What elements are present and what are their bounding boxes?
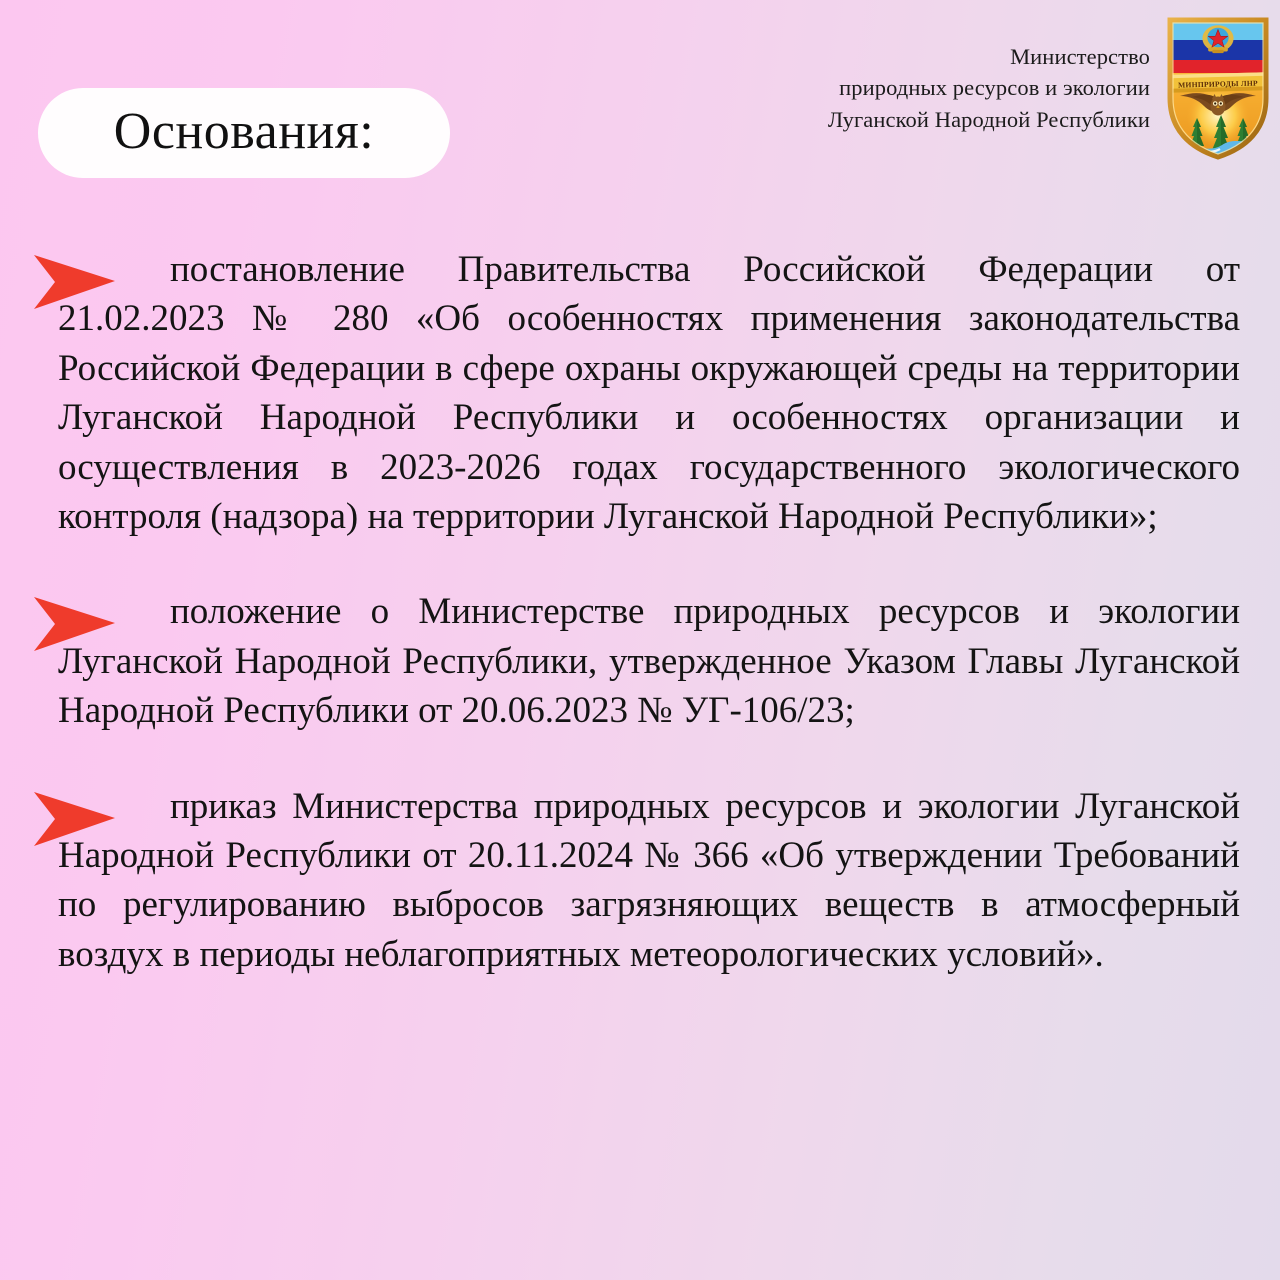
page-title: Основания: <box>114 102 374 165</box>
bullet-item: постановление Правительства Российской Ф… <box>58 245 1240 541</box>
ministry-name-line-3: Луганской Народной Республики <box>828 104 1150 136</box>
bullet-item: положение о Министерстве природных ресур… <box>58 587 1240 735</box>
red-arrow-bullet-icon <box>31 593 117 655</box>
red-arrow-bullet-icon <box>31 251 117 313</box>
masthead: Министерство природных ресурсов и эколог… <box>828 14 1272 162</box>
bullet-text: приказ Министерства природных ресурсов и… <box>58 782 1240 980</box>
ministry-name-line-1: Министерство <box>828 41 1150 73</box>
slide-root: Министерство природных ресурсов и эколог… <box>0 0 1280 1280</box>
page-title-pill: Основания: <box>38 88 450 178</box>
red-arrow-bullet-icon <box>31 788 117 850</box>
ministry-name: Министерство природных ресурсов и эколог… <box>828 41 1150 136</box>
lnr-ministry-emblem-icon: МИНПРИРОДЫ ЛНР <box>1164 14 1272 162</box>
ministry-name-line-2: природных ресурсов и экологии <box>828 72 1150 104</box>
bullet-list: постановление Правительства Российской Ф… <box>58 208 1240 1016</box>
bullet-text: положение о Министерстве природных ресур… <box>58 587 1240 735</box>
bullet-item: приказ Министерства природных ресурсов и… <box>58 782 1240 980</box>
bullet-text: постановление Правительства Российской Ф… <box>58 245 1240 541</box>
